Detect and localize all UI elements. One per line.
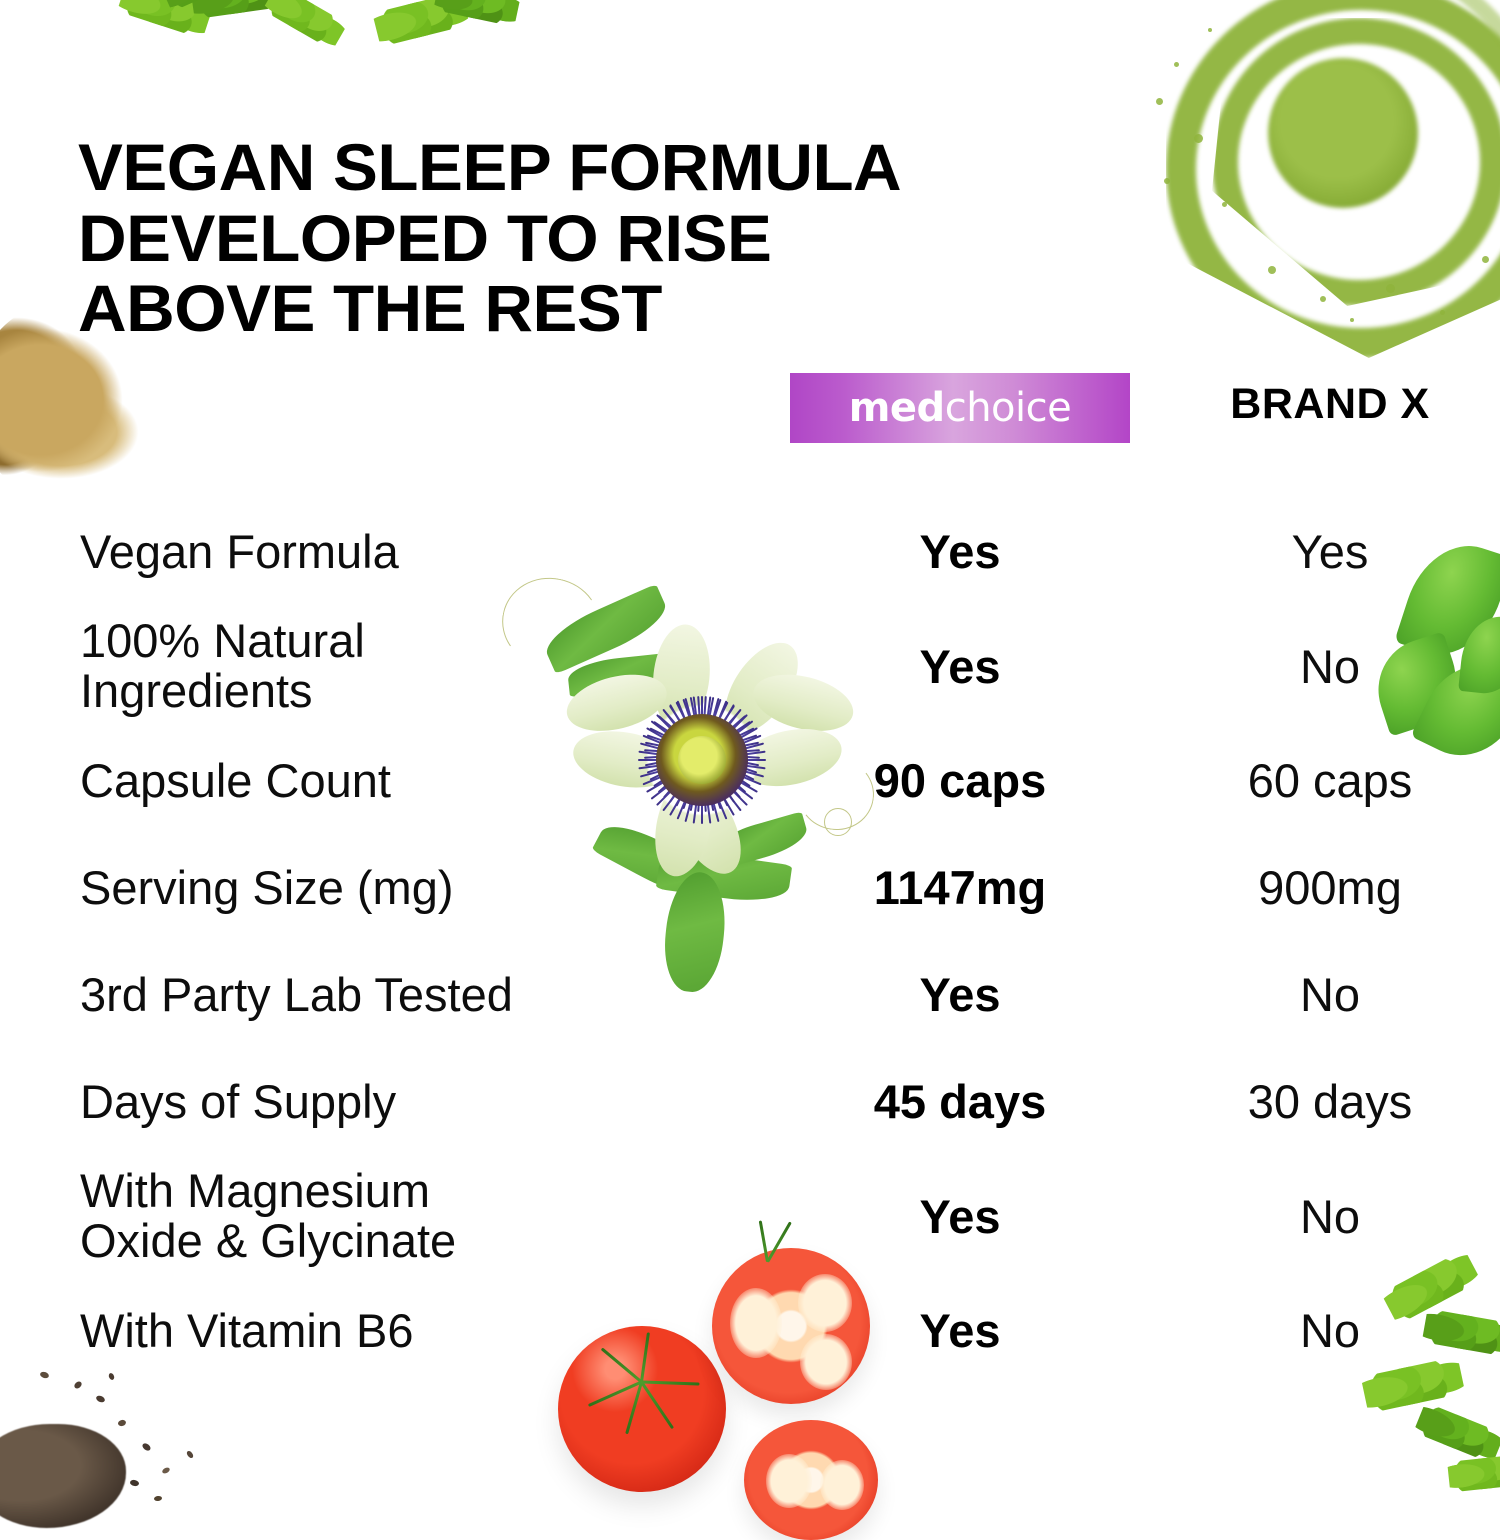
brand-x-value: No <box>1180 1303 1480 1358</box>
brand-x-value: No <box>1180 1189 1480 1244</box>
headline-line-1: VEGAN SLEEP FORMULA <box>78 132 1200 203</box>
medchoice-value: Yes <box>790 1189 1130 1244</box>
comparison-row: Days of Supply45 days30 days <box>0 1048 1500 1155</box>
feature-label: Capsule Count <box>0 756 760 806</box>
comparison-row: Vegan FormulaYesYes <box>0 498 1500 605</box>
feature-label: 3rd Party Lab Tested <box>0 970 760 1020</box>
comparison-row: Serving Size (mg)1147mg900mg <box>0 834 1500 941</box>
comparison-row: With Vitamin B6YesNo <box>0 1277 1500 1384</box>
medchoice-logo: medchoice <box>849 388 1071 428</box>
brand-x-value: No <box>1180 639 1480 694</box>
brand-x-value: No <box>1180 967 1480 1022</box>
medchoice-value: Yes <box>790 639 1130 694</box>
comparison-row: Capsule Count90 caps60 caps <box>0 727 1500 834</box>
medchoice-value: 45 days <box>790 1074 1130 1129</box>
medchoice-value: Yes <box>790 967 1130 1022</box>
logo-text-med: med <box>849 385 945 431</box>
headline-line-2: DEVELOPED TO RISE <box>78 203 1200 274</box>
headline-line-3: ABOVE THE REST <box>78 273 1200 344</box>
brand-x-value: 60 caps <box>1180 753 1480 808</box>
comparison-row: 100% Natural IngredientsYesNo <box>0 605 1500 727</box>
brand-x-value: 30 days <box>1180 1074 1480 1129</box>
logo-text-choice: choice <box>945 385 1072 431</box>
feature-label: Vegan Formula <box>0 527 760 577</box>
comparison-table: Vegan FormulaYesYes100% Natural Ingredie… <box>0 498 1500 1384</box>
feature-label: Days of Supply <box>0 1077 760 1127</box>
feature-label: With Vitamin B6 <box>0 1306 760 1356</box>
page-title: VEGAN SLEEP FORMULA DEVELOPED TO RISE AB… <box>78 132 1200 344</box>
brand-x-column-header: BRAND X <box>1180 380 1480 429</box>
medchoice-brand-badge: medchoice <box>790 373 1130 443</box>
infographic-content: VEGAN SLEEP FORMULA DEVELOPED TO RISE AB… <box>0 0 1500 1500</box>
brand-x-value: Yes <box>1180 524 1480 579</box>
medchoice-value: 90 caps <box>790 753 1130 808</box>
feature-label: 100% Natural Ingredients <box>0 616 760 716</box>
medchoice-value: Yes <box>790 1303 1130 1358</box>
feature-label: Serving Size (mg) <box>0 863 760 913</box>
medchoice-value: 1147mg <box>790 860 1130 915</box>
brand-x-value: 900mg <box>1180 860 1480 915</box>
comparison-row: 3rd Party Lab TestedYesNo <box>0 941 1500 1048</box>
medchoice-value: Yes <box>790 524 1130 579</box>
comparison-row: With Magnesium Oxide & GlycinateYesNo <box>0 1155 1500 1277</box>
feature-label: With Magnesium Oxide & Glycinate <box>0 1166 760 1266</box>
